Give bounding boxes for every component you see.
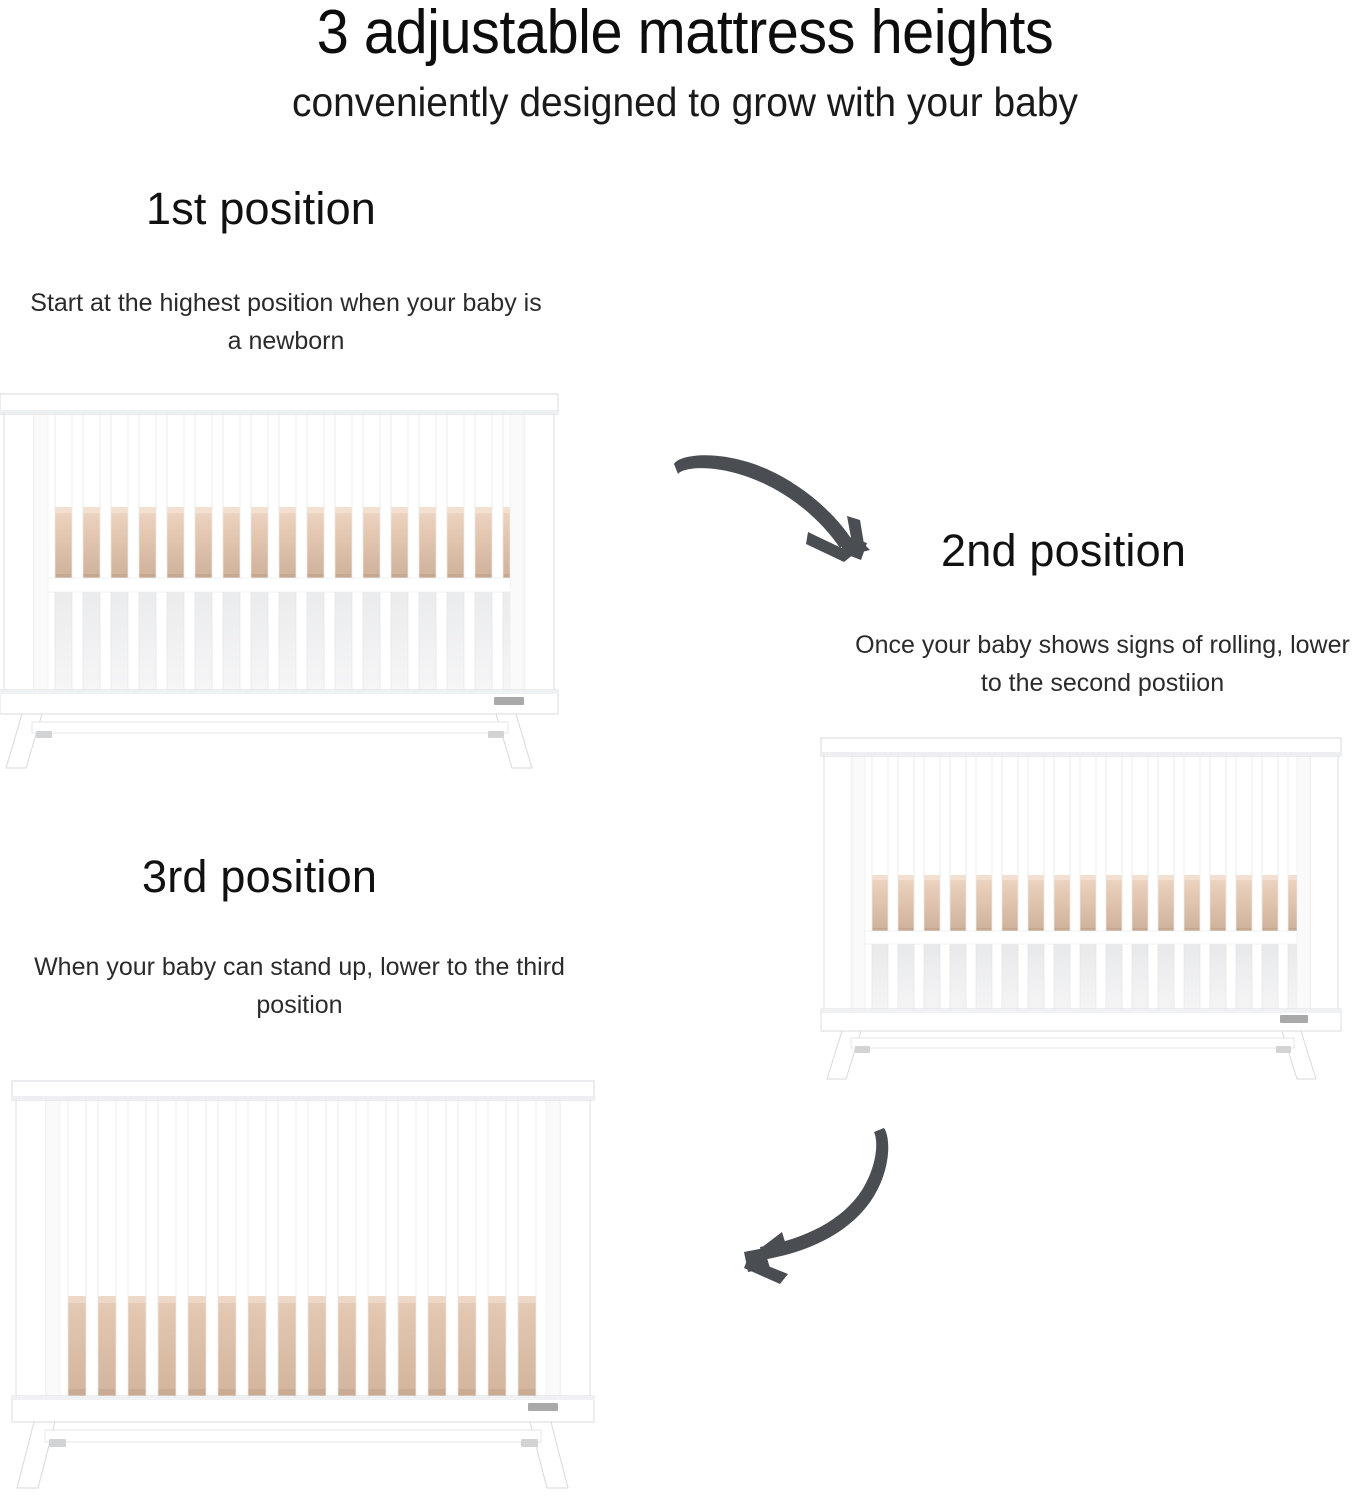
crib-bottom-rail — [12, 1396, 594, 1422]
crib-bottom-rail — [0, 690, 558, 714]
position-2-caption: Once your baby shows signs of rolling, l… — [855, 626, 1350, 702]
header: 3 adjustable mattress heights convenient… — [0, 0, 1370, 123]
crib-image-position-1 — [0, 390, 566, 770]
crib-base-legs — [827, 1031, 1316, 1079]
crib-mid-rail — [22, 578, 540, 592]
crib-brand-label — [528, 1403, 558, 1411]
crib-image-position-2 — [818, 735, 1346, 1080]
position-3-caption: When your baby can stand up, lower to th… — [28, 948, 571, 1024]
crib-base-legs — [6, 714, 532, 768]
crib-mid-rail — [842, 931, 1322, 944]
position-1-caption: Start at the highest position when your … — [30, 284, 542, 360]
page-subtitle: conveniently designed to grow with your … — [34, 64, 1336, 123]
arrow-2nd-to-3rd — [704, 1122, 914, 1292]
crib-bottom-rail — [821, 1009, 1341, 1031]
crib-top-rail — [0, 394, 558, 414]
arrow-1st-to-2nd — [668, 440, 888, 580]
crib-brand-label — [494, 697, 524, 705]
curved-arrow-icon — [674, 455, 870, 562]
position-1-heading: 1st position — [146, 186, 376, 231]
curved-arrow-icon — [744, 1128, 888, 1284]
crib-image-position-3 — [8, 1078, 600, 1490]
position-3-heading: 3rd position — [142, 854, 377, 899]
crib-top-rail — [821, 738, 1341, 756]
position-2-heading: 2nd position — [941, 528, 1186, 573]
crib-base-legs — [17, 1422, 568, 1488]
page-title: 3 adjustable mattress heights — [48, 0, 1322, 64]
crib-top-rail — [12, 1081, 594, 1100]
crib-brand-label — [1280, 1015, 1308, 1023]
